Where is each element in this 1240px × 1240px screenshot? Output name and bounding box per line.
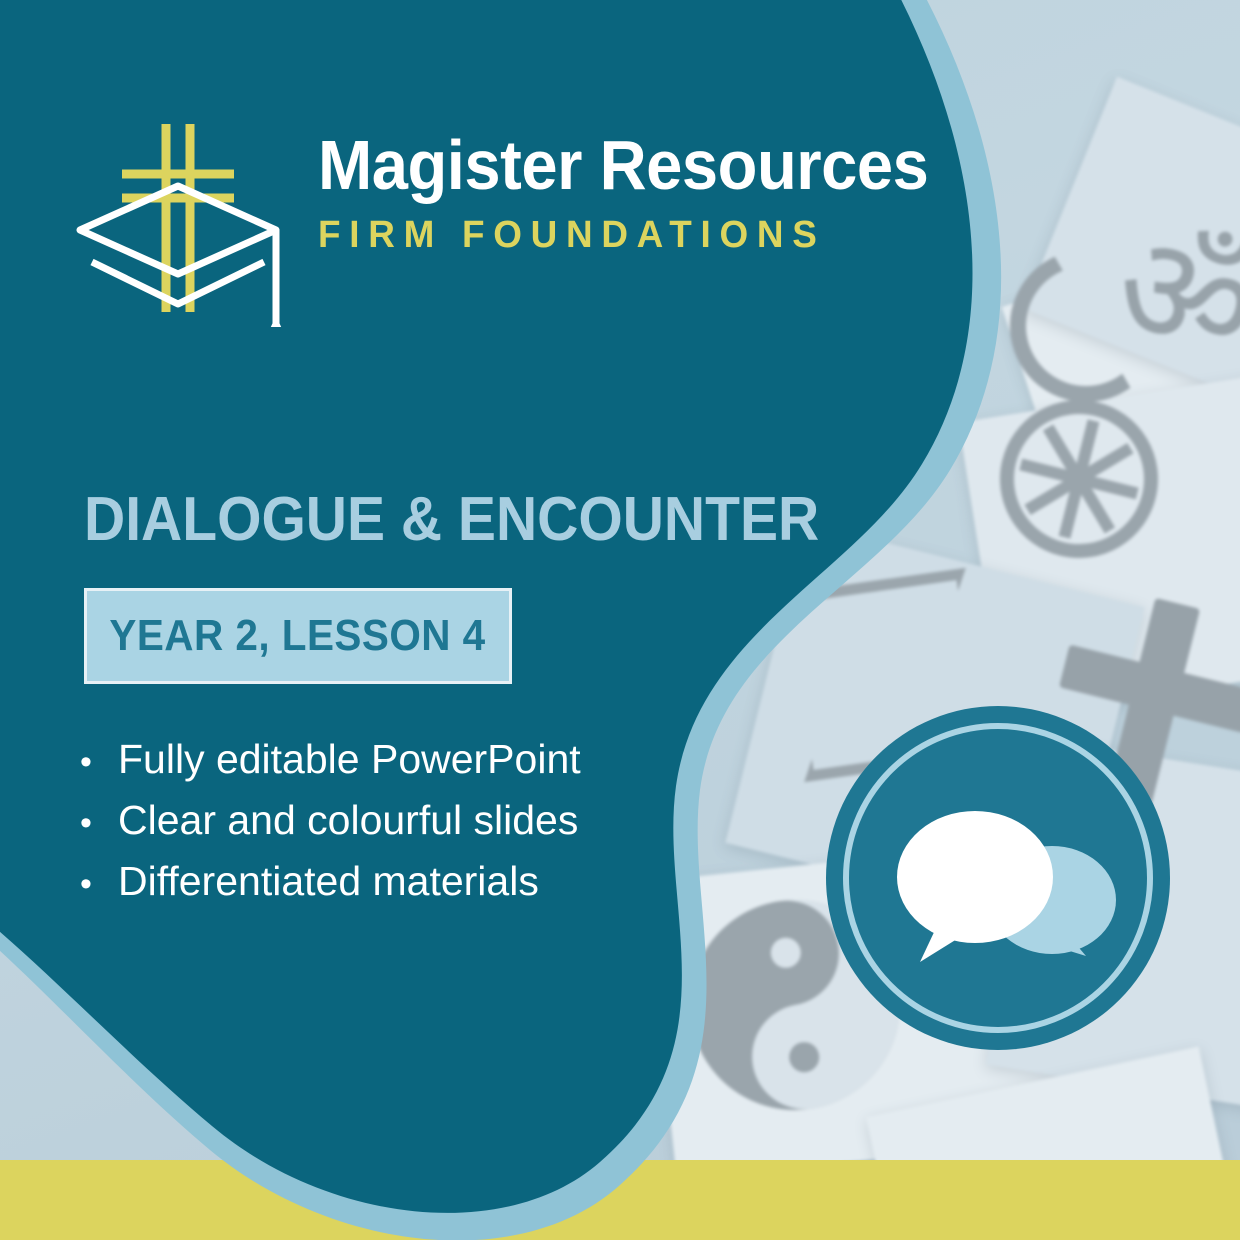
bullet-icon: • <box>80 794 118 852</box>
lesson-badge: YEAR 2, LESSON 4 <box>84 588 512 684</box>
promo-graphic: ॐ <box>0 0 1240 1240</box>
brand-name: Magister Resources <box>318 130 928 200</box>
lesson-badge-label: YEAR 2, LESSON 4 <box>110 611 486 661</box>
list-item-label: Clear and colourful slides <box>118 791 578 849</box>
bullet-icon: • <box>80 733 118 791</box>
brand-tagline: FIRM FOUNDATIONS <box>318 214 955 257</box>
list-item: • Fully editable PowerPoint <box>80 730 581 791</box>
list-item: • Differentiated materials <box>80 852 581 913</box>
footer-band <box>0 1160 1240 1240</box>
list-item: • Clear and colourful slides <box>80 791 581 852</box>
bullet-icon: • <box>80 855 118 913</box>
lesson-title: DIALOGUE & ENCOUNTER <box>84 484 819 555</box>
brand-logo: Magister Resources FIRM FOUNDATIONS <box>70 112 880 342</box>
list-item-label: Differentiated materials <box>118 852 539 910</box>
graduation-cap-with-cross-logo <box>70 112 295 327</box>
list-item-label: Fully editable PowerPoint <box>118 730 581 788</box>
speech-bubbles-badge <box>824 704 1172 1052</box>
feature-list: • Fully editable PowerPoint • Clear and … <box>80 730 581 913</box>
brand-wordmark: Magister Resources FIRM FOUNDATIONS <box>318 130 974 257</box>
